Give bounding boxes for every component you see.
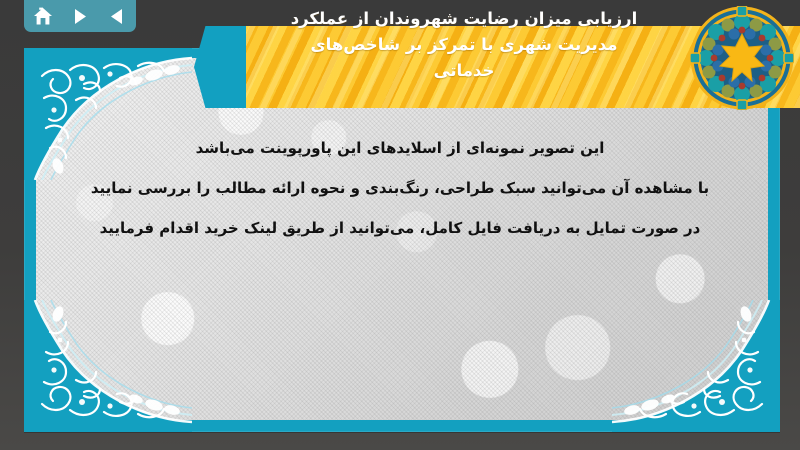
right-triangle-icon — [73, 8, 87, 25]
previous-slide-button[interactable] — [103, 3, 131, 29]
title-line-1: ارزیابی میزان رضایت شهروندان از عملکرد — [246, 6, 682, 32]
slide-title: ارزیابی میزان رضایت شهروندان از عملکرد م… — [246, 6, 682, 84]
next-slide-button[interactable] — [66, 3, 94, 29]
slide-navigation-bar[interactable] — [24, 0, 136, 32]
title-line-2: مدیریت شهری با تمرکز بر شاخص‌های — [246, 32, 682, 58]
body-line-2: با مشاهده آن می‌توانید سبک طراحی، رنگ‌بن… — [60, 168, 740, 208]
slide-body-text: این تصویر نمونه‌ای از اسلایدهای این پاور… — [60, 128, 740, 248]
body-line-1: این تصویر نمونه‌ای از اسلایدهای این پاور… — [60, 128, 740, 168]
home-icon — [33, 7, 53, 26]
persian-medallion-icon — [690, 6, 794, 110]
left-triangle-icon — [109, 8, 125, 25]
home-button[interactable] — [29, 3, 57, 29]
body-line-3: در صورت تمایل به دریافت فایل کامل، می‌تو… — [60, 208, 740, 248]
title-line-3: خدماتی — [246, 58, 682, 84]
presentation-slide: ارزیابی میزان رضایت شهروندان از عملکرد م… — [0, 0, 800, 450]
